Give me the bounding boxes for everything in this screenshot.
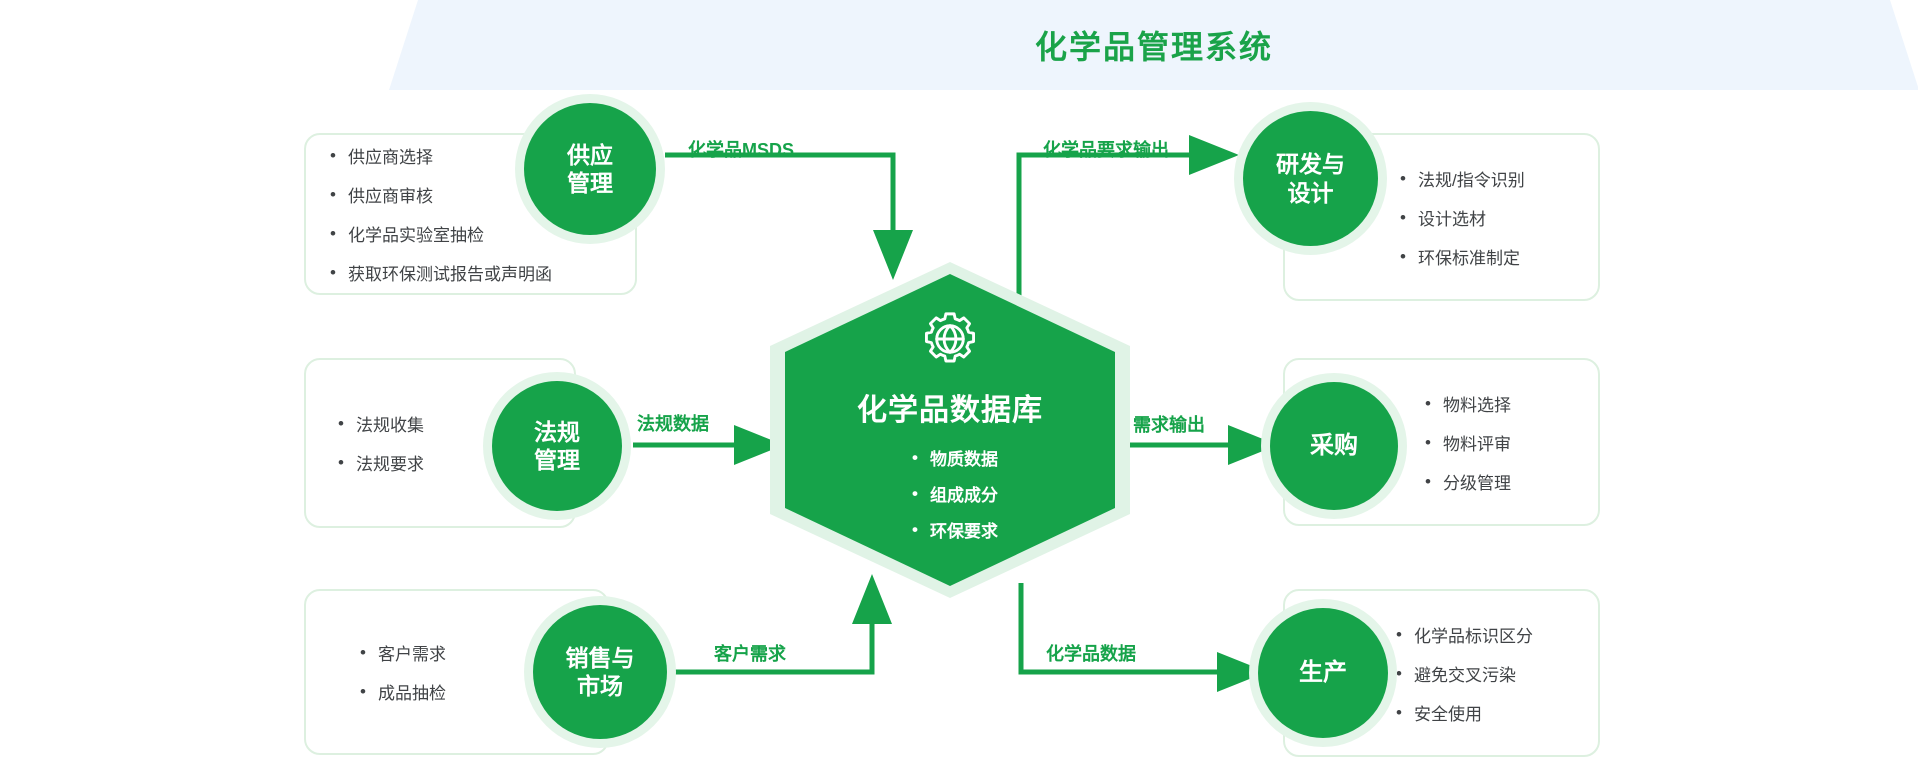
node-production[interactable]: 生产 (1258, 608, 1388, 738)
center-title: 化学品数据库 (857, 385, 1043, 429)
node-purchasing[interactable]: 采购 (1270, 382, 1398, 510)
edge-supply-to-center (665, 155, 893, 256)
list-item: • 组成成分 (912, 481, 998, 506)
node-rnd-design[interactable]: 研发与 设计 (1243, 111, 1378, 246)
center-bullets: • 物质数据 • 组成成分 • 环保要求 (902, 445, 998, 542)
gear-globe-icon (921, 310, 979, 373)
node-sales-and-marketing[interactable]: 销售与 市场 (533, 605, 667, 739)
node-supply-management[interactable]: 供应 管理 (524, 103, 656, 235)
bullet-icon: • (912, 485, 930, 502)
edge-label-supply-to-center: 化学品MSDS (688, 136, 794, 162)
edge-label-center-to-purchase: 需求输出 (1133, 411, 1205, 437)
bullet-icon: • (912, 521, 930, 538)
edge-label-regulation-to-center: 法规数据 (637, 410, 709, 436)
list-item: • 物质数据 (912, 445, 998, 470)
list-item: • 环保要求 (912, 517, 998, 542)
edge-label-center-to-rnd: 化学品要求输出 (1043, 136, 1169, 162)
diagram-canvas: 化学品管理系统 化学品MSDS 化 (0, 0, 1918, 765)
node-regulation-management[interactable]: 法规 管理 (492, 381, 622, 511)
edge-label-center-to-production: 化学品数据 (1046, 640, 1136, 666)
bullet-icon: • (912, 449, 930, 466)
edge-center-to-rnd (1019, 155, 1215, 300)
edge-label-sales-to-center: 客户需求 (714, 640, 786, 666)
